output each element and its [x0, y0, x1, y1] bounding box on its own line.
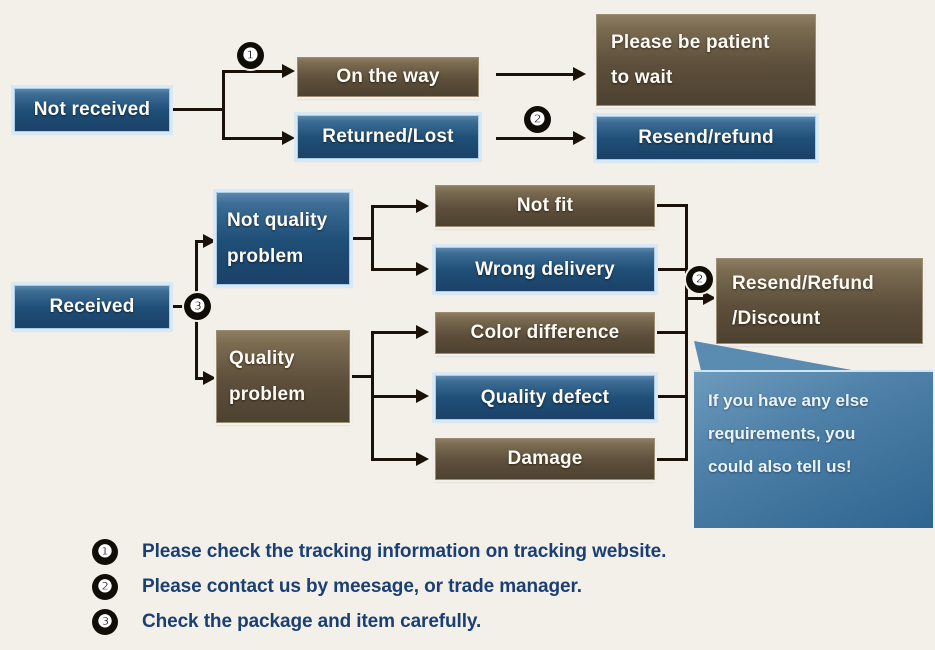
node-label: Not received: [15, 100, 169, 120]
step-marker-2-top: ❷: [524, 106, 551, 133]
connector-not-received-stem: [170, 108, 225, 111]
connector-nqp-to-not-fit: [371, 205, 419, 208]
step-marker-2-right: ❷: [686, 266, 713, 293]
connector-qp-to-quality-defect: [371, 395, 419, 398]
node-label: Not fit: [436, 196, 654, 216]
step-marker-1-top: ❶: [237, 42, 264, 69]
legend-item: ❸ Check the package and item carefully.: [92, 604, 852, 639]
node-color-difference[interactable]: Color difference: [435, 312, 655, 354]
callout-line2: requirements, you: [708, 417, 919, 450]
connector-nqp-fan-vertical: [371, 205, 374, 270]
connector-on-the-way-to-patient: [496, 73, 576, 76]
legend-text-3: Check the package and item carefully.: [142, 611, 481, 633]
connector-to-on-the-way: [222, 70, 287, 73]
arrowhead-wrong-delivery: [416, 262, 429, 276]
arrowhead-quality-defect: [416, 389, 429, 403]
node-label: Wrong delivery: [436, 260, 654, 280]
legend-badge-1: ❶: [92, 539, 118, 565]
node-label-line2: to wait: [611, 60, 815, 95]
legend-item: ❶ Please check the tracking information …: [92, 534, 852, 569]
node-label: Color difference: [436, 323, 654, 343]
node-label-line1: Not quality: [227, 203, 349, 238]
arrowhead-quality-problem: [203, 371, 216, 385]
node-label-line1: Resend/Refund: [732, 266, 922, 301]
connector-to-returned-lost: [222, 137, 287, 140]
legend-badge-3: ❸: [92, 609, 118, 635]
connector-quality-defect-to-rail: [655, 395, 688, 398]
node-quality-problem[interactable]: Quality problem: [216, 330, 350, 423]
step-marker-3-middle: ❸: [184, 293, 211, 320]
arrowhead-resend-refund: [573, 131, 586, 145]
step-marker-label: ❷: [691, 269, 707, 290]
node-label: Quality defect: [436, 388, 654, 408]
connector-not-received-branch-vertical: [222, 70, 225, 140]
node-on-the-way[interactable]: On the way: [297, 57, 479, 97]
flowchart-canvas: Not received ❶ On the way Returned/Lost …: [0, 0, 935, 650]
node-label-line2: problem: [227, 239, 349, 274]
node-label: Resend/refund: [597, 128, 815, 148]
callout-line3: could also tell us!: [708, 450, 919, 483]
legend-badge-2: ❷: [92, 574, 118, 600]
node-please-be-patient[interactable]: Please be patient to wait: [596, 14, 816, 106]
step-marker-label: ❸: [189, 296, 205, 317]
connector-nqp-to-wrong-delivery: [371, 268, 419, 271]
connector-qp-to-damage: [371, 458, 419, 461]
connector-qp-to-color-difference: [371, 331, 419, 334]
legend-text-1: Please check the tracking information on…: [142, 541, 666, 563]
arrowhead-color-difference: [416, 325, 429, 339]
arrowhead-please-be-patient: [573, 67, 586, 81]
node-received[interactable]: Received: [14, 285, 170, 329]
legend-item: ❷ Please contact us by meesage, or trade…: [92, 569, 852, 604]
arrowhead-not-quality-problem: [203, 234, 216, 248]
arrowhead-damage: [416, 452, 429, 466]
node-returned-lost[interactable]: Returned/Lost: [297, 115, 479, 159]
node-label: Damage: [436, 449, 654, 469]
legend-text-2: Please contact us by meesage, or trade m…: [142, 576, 582, 598]
connector-returned-to-resend: [496, 137, 576, 140]
arrowhead-not-fit: [416, 199, 429, 213]
node-wrong-delivery[interactable]: Wrong delivery: [435, 247, 655, 292]
connector-damage-to-rail: [655, 458, 688, 461]
legend: ❶ Please check the tracking information …: [92, 534, 852, 639]
step-marker-label: ❶: [242, 45, 258, 66]
arrowhead-resend-refund-discount: [703, 291, 716, 305]
connector-not-fit-to-rail: [655, 204, 688, 207]
connector-color-difference-to-rail: [655, 331, 688, 334]
arrowhead-returned-lost: [282, 131, 295, 145]
node-label: Received: [15, 297, 169, 317]
node-quality-defect[interactable]: Quality defect: [435, 375, 655, 420]
connector-wrong-delivery-to-rail: [655, 268, 688, 271]
node-label-line2: problem: [229, 377, 349, 412]
node-label-line1: Please be patient: [611, 25, 815, 60]
node-not-quality-problem[interactable]: Not quality problem: [216, 192, 350, 285]
node-label: On the way: [298, 67, 478, 87]
callout-line1: If you have any else: [708, 384, 919, 417]
node-resend-refund[interactable]: Resend/refund: [596, 116, 816, 160]
node-not-fit[interactable]: Not fit: [435, 185, 655, 227]
node-label: Returned/Lost: [298, 127, 478, 147]
step-marker-label: ❷: [529, 109, 545, 130]
callout-bubble: If you have any else requirements, you c…: [694, 370, 933, 528]
node-not-received[interactable]: Not received: [14, 88, 170, 132]
node-label-line2: /Discount: [732, 301, 922, 336]
node-resend-refund-discount[interactable]: Resend/Refund /Discount: [716, 258, 923, 344]
node-label-line1: Quality: [229, 341, 349, 376]
node-damage[interactable]: Damage: [435, 438, 655, 480]
arrowhead-on-the-way: [282, 64, 295, 78]
